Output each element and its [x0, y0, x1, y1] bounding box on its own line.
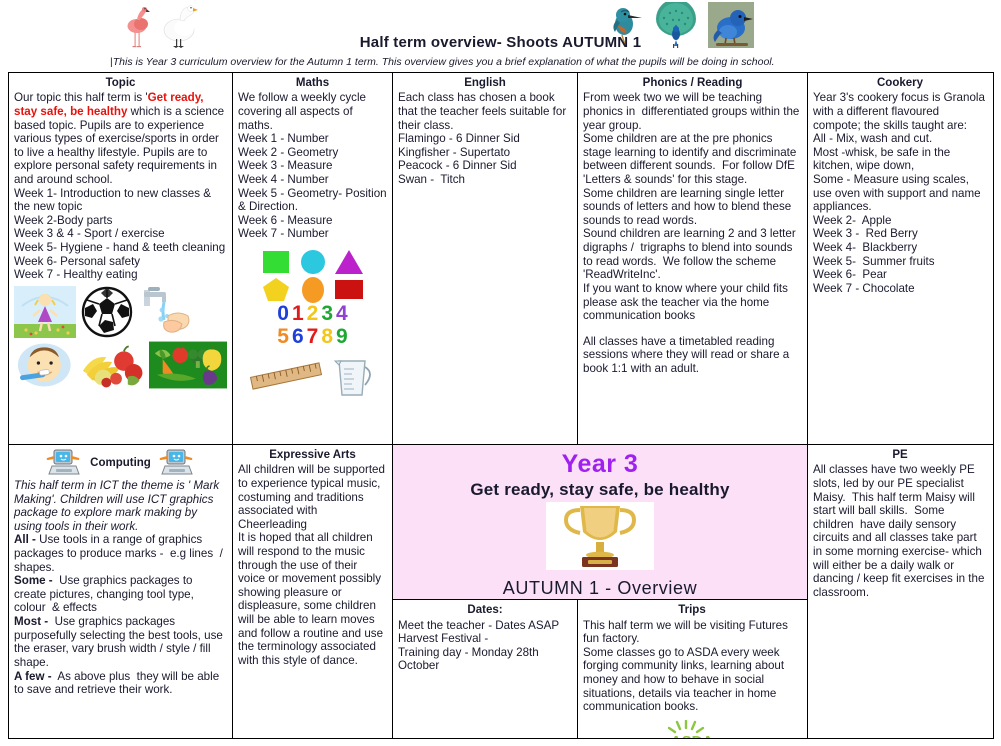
- cell-topic: Topic Our topic this half term is 'Get r…: [9, 73, 233, 444]
- cell-phonics-reading: Phonics / Reading From week two we will …: [578, 73, 808, 444]
- cell-cookery: Cookery Year 3's cookery focus is Granol…: [808, 73, 992, 444]
- cookery-week-2: Week 2- Apple: [813, 214, 987, 228]
- girl-skipping-image: [14, 286, 76, 338]
- dates-item-1: Meet the teacher - Dates ASAP: [398, 619, 572, 633]
- cookery-week-7: Week 7 - Chocolate: [813, 282, 987, 296]
- term-overview-label: AUTUMN 1 - Overview: [503, 578, 697, 599]
- dates-heading: Dates:: [398, 603, 572, 617]
- numeral-9: 9: [336, 326, 348, 347]
- english-book-swan: Swan - Titch: [398, 173, 572, 187]
- trips-heading: Trips: [583, 603, 801, 617]
- english-heading: English: [398, 76, 572, 90]
- maths-week-4: Week 4 - Number: [238, 173, 387, 187]
- page-subtitle: |This is Year 3 curriculum overview for …: [110, 56, 775, 68]
- computing-level-some: Some - Use graphics packages to create p…: [14, 574, 227, 615]
- handwashing-image: [138, 286, 196, 338]
- computing-intro: This half term in ICT the theme is ' Mar…: [14, 479, 227, 533]
- cookery-heading: Cookery: [813, 76, 987, 90]
- computing-level-most: Most - Use graphics packages purposefull…: [14, 615, 227, 669]
- asda-logo-text: ASDA: [671, 733, 714, 738]
- pe-text: All classes have two weekly PE slots, le…: [813, 463, 987, 599]
- phonics-paragraph-4: Sound children are learning 2 and 3 lett…: [583, 227, 802, 281]
- cell-english: English Each class has chosen a book tha…: [393, 73, 578, 444]
- numeral-6: 6: [292, 326, 304, 347]
- maths-week-5: Week 5 - Geometry- Position & Direction.: [238, 187, 387, 214]
- maths-week-6: Week 6 - Measure: [238, 214, 387, 228]
- numerals-row-1: 0 1 2 3 4: [277, 303, 347, 324]
- numeral-7: 7: [307, 326, 319, 347]
- computing-level-most-label: Most -: [14, 615, 51, 628]
- trophy-wrap: [546, 502, 654, 575]
- expressive-arts-paragraph-2: It is hoped that all children will respo…: [238, 531, 387, 667]
- maths-week-2: Week 2 - Geometry: [238, 146, 387, 160]
- numeral-2: 2: [307, 303, 319, 324]
- dates-item-3: Training day - Monday 28th October: [398, 646, 572, 673]
- centre-panel: Year 3 Get ready, stay safe, be healthy: [393, 445, 807, 600]
- asda-logo: ASDA: [660, 720, 724, 738]
- cookery-week-4: Week 4- Blackberry: [813, 241, 987, 255]
- cell-trips: Trips This half term we will be visiting…: [578, 600, 806, 738]
- topic-week-6: Week 6- Personal safety: [14, 255, 227, 269]
- year-motto: Get ready, stay safe, be healthy: [470, 480, 729, 500]
- centre-bottom: Dates: Meet the teacher - Dates ASAP Har…: [393, 600, 807, 738]
- pe-heading: PE: [813, 448, 987, 462]
- english-book-flamingo: Flamingo - 6 Dinner Sid: [398, 132, 572, 146]
- numeral-4: 4: [336, 303, 348, 324]
- cell-pe: PE All classes have two weekly PE slots,…: [808, 445, 992, 738]
- computing-heading: Computing: [90, 456, 151, 470]
- numeral-1: 1: [292, 303, 304, 324]
- computing-header: Computing: [14, 448, 227, 478]
- vegetables-image: [149, 341, 227, 389]
- topic-week-5: Week 5- Hygiene - hand & teeth cleaning: [14, 241, 227, 255]
- football-image: [79, 286, 135, 338]
- cookery-week-5: Week 5- Summer fruits: [813, 255, 987, 269]
- maths-intro: We follow a weekly cycle covering all as…: [238, 91, 387, 132]
- computing-level-all: All - Use tools in a range of graphics p…: [14, 533, 227, 574]
- phonics-paragraph-3: Some children are learning single letter…: [583, 187, 802, 228]
- table-row-bottom: Computing This half term in ICT the them…: [9, 445, 993, 738]
- topic-week-7: Week 7 - Healthy eating: [14, 268, 227, 282]
- topic-images: [14, 286, 227, 389]
- topic-week-3: Week 3 & 4 - Sport / exercise: [14, 227, 227, 241]
- cell-computing: Computing This half term in ICT the them…: [9, 445, 233, 738]
- cell-expressive-arts: Expressive Arts All children will be sup…: [233, 445, 393, 738]
- topic-intro-before: Our topic this half term is ': [14, 91, 148, 104]
- phonics-heading: Phonics / Reading: [583, 76, 802, 90]
- fruit-image: [77, 341, 147, 389]
- maths-tools: [249, 353, 377, 399]
- cookery-skill-some: Some - Measure using scales, use oven wi…: [813, 173, 987, 214]
- numeral-8: 8: [321, 326, 333, 347]
- measuring-jug-image: [331, 353, 377, 399]
- computing-level-all-text: Use tools in a range of graphics package…: [14, 533, 226, 573]
- phonics-paragraph-1: From week two we will be teaching phonic…: [583, 91, 802, 132]
- curriculum-overview-page: Half term overview- Shoots AUTUMN 1 |Thi…: [0, 0, 1001, 746]
- cookery-skill-most: Most -whisk, be safe in the kitchen, wip…: [813, 146, 987, 173]
- page-subtitle-text: This is Year 3 curriculum overview for t…: [113, 56, 775, 68]
- numerals-row-2: 5 6 7 8 9: [277, 326, 347, 347]
- computing-level-some-label: Some -: [14, 574, 56, 587]
- numeral-3: 3: [321, 303, 333, 324]
- cookery-week-3: Week 3 - Red Berry: [813, 227, 987, 241]
- topic-heading: Topic: [14, 76, 227, 90]
- cookery-week-6: Week 6- Pear: [813, 268, 987, 282]
- overview-table: Topic Our topic this half term is 'Get r…: [8, 72, 994, 739]
- maths-images: 0 1 2 3 4 5 6 7 8 9: [238, 247, 387, 399]
- dates-item-2: Harvest Festival -: [398, 632, 572, 646]
- computing-level-afew: A few - As above plus they will be able …: [14, 670, 227, 697]
- maths-week-7: Week 7 - Number: [238, 227, 387, 241]
- phonics-paragraph-2: Some children are at the pre phonics sta…: [583, 132, 802, 186]
- page-header: Half term overview- Shoots AUTUMN 1 |Thi…: [0, 0, 1001, 62]
- cell-maths: Maths We follow a weekly cycle covering …: [233, 73, 393, 444]
- asda-logo-wrap: ASDA: [583, 720, 801, 738]
- year-title: Year 3: [562, 451, 639, 477]
- cell-centre: Year 3 Get ready, stay safe, be healthy: [393, 445, 808, 738]
- maths-week-1: Week 1 - Number: [238, 132, 387, 146]
- english-book-kingfisher: Kingfisher - Supertato: [398, 146, 572, 160]
- maths-week-3: Week 3 - Measure: [238, 159, 387, 173]
- computing-level-all-label: All -: [14, 533, 39, 546]
- ruler-image: [249, 358, 323, 394]
- table-row-top: Topic Our topic this half term is 'Get r…: [9, 73, 993, 445]
- phonics-paragraph-5: If you want to know where your child fit…: [583, 282, 802, 323]
- cookery-skill-all: All - Mix, wash and cut.: [813, 132, 987, 146]
- shapes-image: [259, 247, 367, 303]
- maths-heading: Maths: [238, 76, 387, 90]
- expressive-arts-heading: Expressive Arts: [238, 448, 387, 462]
- toothbrushing-image: [14, 341, 75, 389]
- topic-body: Our topic this half term is 'Get ready, …: [14, 91, 227, 186]
- computer-mascot-icon: [44, 448, 84, 478]
- cookery-intro: Year 3's cookery focus is Granola with a…: [813, 91, 987, 132]
- english-intro: Each class has chosen a book that the te…: [398, 91, 572, 132]
- computing-level-afew-label: A few -: [14, 670, 55, 683]
- cell-dates: Dates: Meet the teacher - Dates ASAP Har…: [393, 600, 578, 738]
- trips-text: This half term we will be visiting Futur…: [583, 619, 801, 714]
- topic-week-2: Week 2-Body parts: [14, 214, 227, 228]
- english-book-peacock: Peacock - 6 Dinner Sid: [398, 159, 572, 173]
- page-title: Half term overview- Shoots AUTUMN 1: [0, 34, 1001, 51]
- numeral-0: 0: [277, 303, 289, 324]
- trophy-image: [546, 502, 654, 570]
- computer-mascot-icon: [157, 448, 197, 478]
- numeral-5: 5: [277, 326, 289, 347]
- phonics-paragraph-6: All classes have a timetabled reading se…: [583, 335, 802, 376]
- topic-week-1: Week 1- Introduction to new classes & th…: [14, 187, 227, 214]
- expressive-arts-paragraph-1: All children will be supported to experi…: [238, 463, 387, 531]
